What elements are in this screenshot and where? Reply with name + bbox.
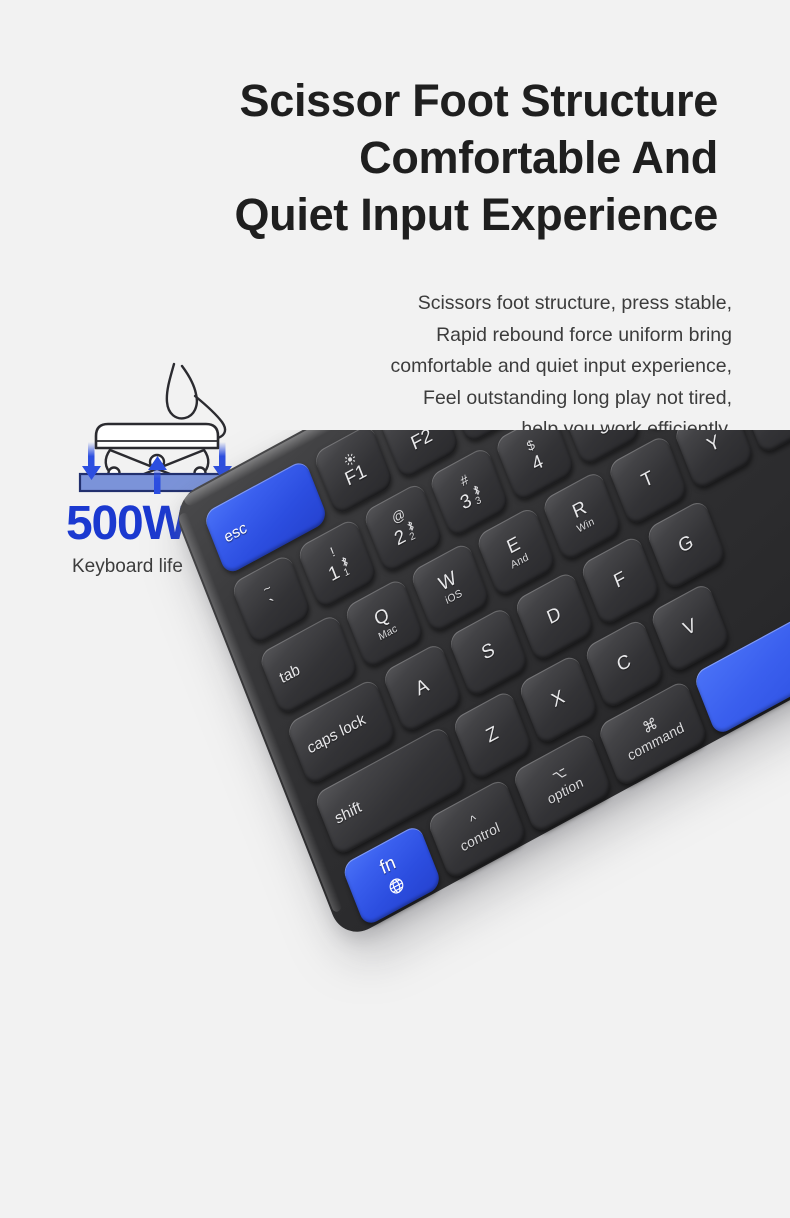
- headline-line-2: Comfortable And: [38, 129, 718, 186]
- key-label: 5: [595, 430, 612, 440]
- key-label: option: [545, 774, 585, 807]
- key-label: F2: [409, 430, 436, 455]
- key-label: `: [268, 596, 281, 618]
- globe-icon: [385, 874, 406, 898]
- key-label: Y: [705, 432, 724, 457]
- bluetooth-channel-icon: 1: [338, 555, 354, 580]
- headline-line-3: Quiet Input Experience: [38, 186, 718, 243]
- key-label: Z: [484, 723, 502, 747]
- key-label: 4: [529, 452, 546, 476]
- description-line-2: Rapid rebound force uniform bring: [212, 320, 732, 352]
- bluetooth-channel-icon: 2: [404, 519, 420, 544]
- key-label: esc: [212, 482, 320, 553]
- key-modifier-symbol: ^: [468, 813, 479, 829]
- key-label: control: [458, 820, 502, 854]
- keyboard-product-image: escF1F2F3F4F5F6F7F8~`!11@22#33$4%5^6&7*8…: [0, 430, 790, 1218]
- key-label: tab: [267, 636, 350, 693]
- key-label: C: [614, 651, 633, 676]
- key-label: caps lock: [295, 700, 389, 763]
- key-label: D: [545, 604, 564, 629]
- key-shift-symbol: !: [329, 545, 338, 560]
- key-label: X: [549, 687, 568, 712]
- bluetooth-channel-icon: 3: [470, 483, 486, 508]
- key-label: 11: [326, 555, 355, 587]
- headline-line-1: Scissor Foot Structure: [38, 72, 718, 129]
- key-label: S: [479, 640, 498, 665]
- keyboard-key-rows: escF1F2F3F4F5F6F7F8~`!11@22#33$4%5^6&7*8…: [202, 430, 790, 927]
- product-feature-page: Scissor Foot Structure Comfortable And Q…: [0, 0, 790, 1218]
- key-label: G: [676, 532, 696, 558]
- key-label: V: [681, 616, 700, 641]
- keyboard-chassis: escF1F2F3F4F5F6F7F8~`!11@22#33$4%5^6&7*8…: [170, 430, 790, 943]
- key-label: F: [611, 569, 629, 593]
- description-line-1: Scissors foot structure, press stable,: [212, 288, 732, 320]
- key-label: 33: [457, 483, 486, 515]
- page-title: Scissor Foot Structure Comfortable And Q…: [38, 72, 718, 243]
- key-label: T: [639, 468, 657, 492]
- key-label: A: [413, 676, 432, 701]
